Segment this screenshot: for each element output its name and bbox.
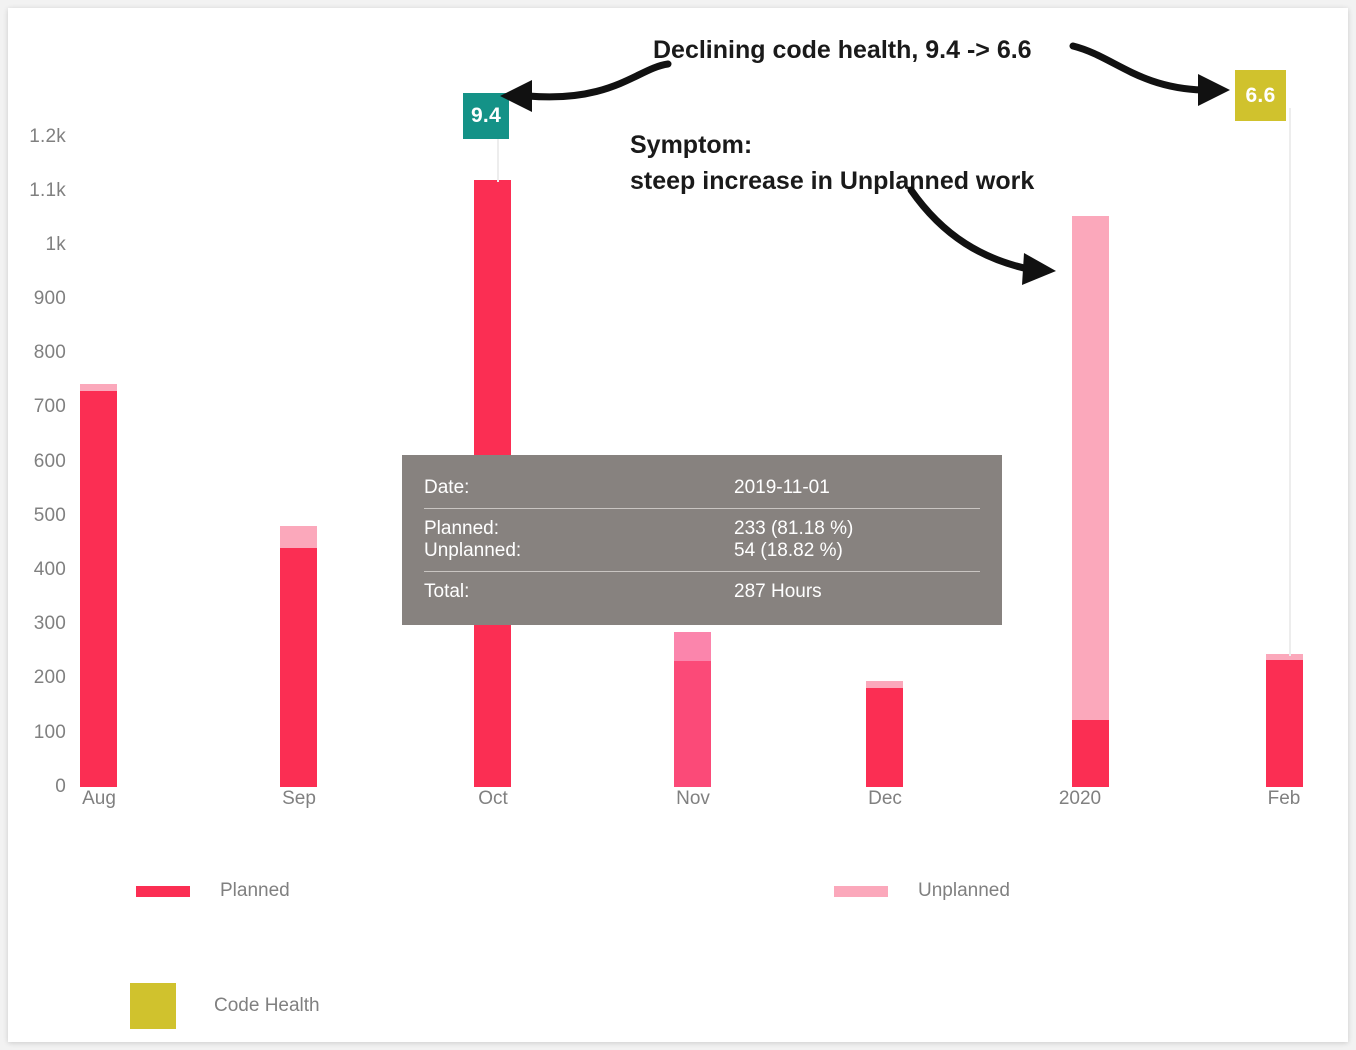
y-axis-tick: 1.2k [8,126,66,148]
y-axis-tick: 1k [8,234,66,256]
tooltip: Date: 2019-11-01 Planned: 233 (81.18 %) … [402,455,1002,625]
tooltip-total-value: 287 Hours [734,581,980,603]
tooltip-date-label: Date: [424,477,734,499]
y-axis-tick: 800 [8,342,66,364]
x-axis-tick-dec: Dec [825,788,945,810]
y-axis-tick: 400 [8,559,66,581]
y-axis-tick: 1.1k [8,180,66,202]
code-health-badge-feb[interactable]: 6.6 [1235,70,1286,121]
legend-swatch-unplanned [834,886,888,897]
x-axis-tick-oct: Oct [433,788,553,810]
tooltip-row-unplanned: Unplanned: 54 (18.82 %) [424,540,980,562]
code-health-badge-oct[interactable]: 9.4 [463,93,509,139]
tooltip-row-planned: Planned: 233 (81.18 %) [424,518,980,540]
tooltip-row-date: Date: 2019-11-01 [424,477,980,499]
bar-segment-planned-dec[interactable] [866,688,903,787]
legend-label-planned: Planned [220,880,290,902]
bar-segment-unplanned-dec[interactable] [866,681,903,688]
code-health-annotation-text: Declining code health, 9.4 -> 6.6 [653,33,1032,69]
tooltip-total-label: Total: [424,581,734,603]
tooltip-planned-label: Planned: [424,518,734,540]
tooltip-unplanned-value: 54 (18.82 %) [734,540,980,562]
legend-label-code-health: Code Health [214,995,320,1017]
tooltip-row-total: Total: 287 Hours [424,581,980,603]
y-axis-tick: 100 [8,722,66,744]
x-axis-tick-sep: Sep [239,788,359,810]
code-health-connector-feb [1289,108,1291,656]
legend-label-unplanned: Unplanned [918,880,1010,902]
bar-segment-planned-nov[interactable] [674,661,711,787]
tooltip-divider-top [424,508,980,509]
bar-segment-unplanned-aug[interactable] [80,384,117,391]
x-axis-tick-nov: Nov [633,788,753,810]
bar-segment-planned-sep[interactable] [280,548,317,787]
legend-swatch-planned [136,886,190,897]
y-axis-tick: 700 [8,396,66,418]
symptom-annotation-line2: steep increase in Unplanned work [630,164,1034,200]
y-axis-tick: 600 [8,451,66,473]
legend-swatch-code-health [130,983,176,1029]
y-axis-tick: 500 [8,505,66,527]
bar-segment-planned-aug[interactable] [80,391,117,787]
chart-card: 1.2k 1.1k 1k 900 800 700 600 500 400 300… [8,8,1348,1042]
x-axis-tick-feb: Feb [1224,788,1344,810]
code-health-connector-oct [497,136,499,182]
x-axis-tick-2020: 2020 [1020,788,1140,810]
legend-item-code-health[interactable]: Code Health [130,983,320,1029]
bar-segment-unplanned-sep[interactable] [280,526,317,548]
y-axis-tick: 300 [8,613,66,635]
bar-segment-unplanned-nov[interactable] [674,632,711,661]
tooltip-unplanned-label: Unplanned: [424,540,734,562]
chart-plot-area: 1.2k 1.1k 1k 900 800 700 600 500 400 300… [8,8,1348,1042]
tooltip-date-value: 2019-11-01 [734,477,980,499]
bar-segment-planned-feb[interactable] [1266,660,1303,787]
bar-segment-unplanned-2020[interactable] [1072,216,1109,720]
legend-item-unplanned[interactable]: Unplanned [834,880,1010,902]
legend-item-planned[interactable]: Planned [136,880,290,902]
symptom-annotation-line1: Symptom: [630,128,752,164]
y-axis-tick: 900 [8,288,66,310]
bar-segment-planned-2020[interactable] [1072,720,1109,787]
tooltip-divider-bottom [424,571,980,572]
tooltip-planned-value: 233 (81.18 %) [734,518,980,540]
y-axis-tick: 200 [8,667,66,689]
x-axis-tick-aug: Aug [39,788,159,810]
